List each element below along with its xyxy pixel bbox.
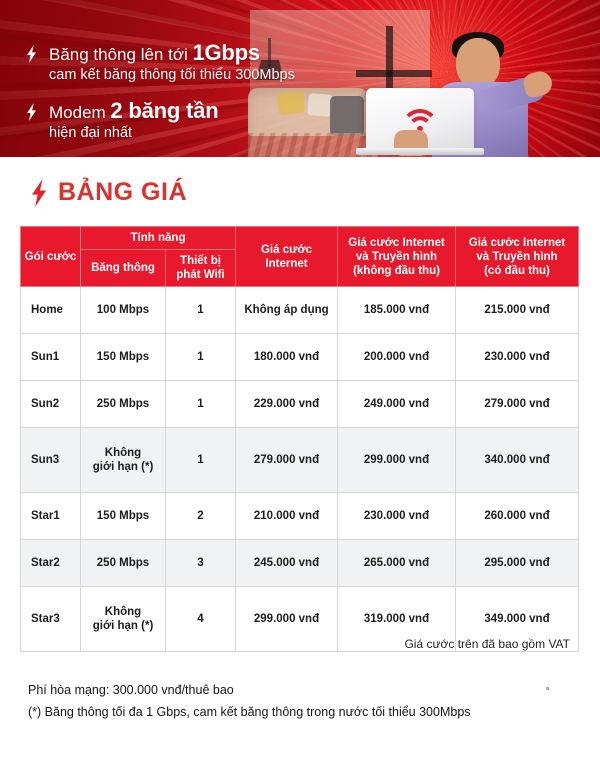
install-fee-note: Phí hòa mạng: 300.000 vnđ/thuê bao — [28, 680, 471, 702]
cell-tv-no-box-price: 265.000 vnđ — [338, 540, 456, 587]
tv-no-box-line-2: và Truyền hình — [340, 250, 453, 264]
tv-box-line-3: (có đầu thu) — [458, 264, 576, 278]
cell-wifi-device: 1 — [166, 334, 236, 381]
wifi-device-line-1: Thiết bị — [168, 254, 233, 268]
cell-internet-price: 210.000 vnđ — [236, 493, 338, 540]
cell-bandwidth: 150 Mbps — [81, 493, 166, 540]
wifi-device-line-2: phát Wifi — [168, 268, 233, 282]
asterisk-note: (*) Băng thông tối đa 1 Gbps, cam kết bă… — [28, 702, 471, 724]
table-row: Home100 Mbps1Không áp dụng185.000 vnđ215… — [21, 287, 579, 334]
cell-wifi-device: 1 — [166, 287, 236, 334]
lightning-bolt-icon — [26, 45, 40, 63]
cell-internet-price: 245.000 vnđ — [236, 540, 338, 587]
tv-no-box-line-3: (không đầu thu) — [340, 264, 453, 278]
cell-package: Home — [21, 287, 81, 334]
col-header-bandwidth: Băng thông — [81, 250, 166, 287]
header-row-top: Gói cước Tính năng Giá cước Internet Giá… — [21, 227, 579, 250]
banner-bullet-2: Modem 2 băng tần hiện đại nhất — [26, 98, 326, 142]
cell-internet-price: 229.000 vnđ — [236, 381, 338, 428]
bullet-1-highlight: 1Gbps — [192, 40, 259, 65]
table-row: Sun1150 Mbps1180.000 vnđ200.000 vnđ230.0… — [21, 334, 579, 381]
image-artifact-speck — [546, 687, 549, 690]
cell-tv-with-box-price: 340.000 vnđ — [456, 428, 579, 493]
cell-internet-price: Không áp dụng — [236, 287, 338, 334]
cell-tv-with-box-price: 230.000 vnđ — [456, 334, 579, 381]
cell-tv-no-box-price: 230.000 vnđ — [338, 493, 456, 540]
cell-internet-price: 180.000 vnđ — [236, 334, 338, 381]
cell-package: Star1 — [21, 493, 81, 540]
bullet-1-line-2: cam kết băng thông tối thiểu 300Mbps — [49, 66, 295, 85]
price-table: Gói cước Tính năng Giá cước Internet Giá… — [20, 226, 579, 652]
lightning-bolt-icon — [30, 179, 48, 207]
internet-price-line-2: Internet — [238, 257, 335, 271]
cell-bandwidth-line-1: Không — [83, 605, 163, 619]
cell-package: Sun2 — [21, 381, 81, 428]
bullet-1-line-1: Băng thông lên tới 1Gbps — [49, 45, 260, 64]
table-row: Sun2250 Mbps1229.000 vnđ249.000 vnđ279.0… — [21, 381, 579, 428]
col-header-internet-price: Giá cước Internet — [236, 227, 338, 287]
cell-package: Sun1 — [21, 334, 81, 381]
cell-bandwidth: 250 Mbps — [81, 540, 166, 587]
cell-tv-no-box-price: 200.000 vnđ — [338, 334, 456, 381]
bullet-2-prefix: Modem — [49, 103, 110, 122]
promo-banner: Băng thông lên tới 1Gbps cam kết băng th… — [0, 0, 600, 157]
page-title: BẢNG GIÁ — [58, 178, 187, 207]
footer-notes: Phí hòa mạng: 300.000 vnđ/thuê bao (*) B… — [28, 680, 471, 723]
cell-bandwidth: 150 Mbps — [81, 334, 166, 381]
internet-price-line-1: Giá cước — [238, 243, 335, 257]
price-table-head: Gói cước Tính năng Giá cước Internet Giá… — [21, 227, 579, 287]
cell-package: Star2 — [21, 540, 81, 587]
bullet-2-highlight: 2 băng tần — [110, 98, 218, 123]
cell-wifi-device: 3 — [166, 540, 236, 587]
lightning-bolt-icon — [26, 103, 40, 121]
cell-bandwidth-line-1: Không — [83, 446, 163, 460]
tv-box-line-2: và Truyền hình — [458, 250, 576, 264]
col-header-package: Gói cước — [21, 227, 81, 287]
cell-tv-with-box-price: 215.000 vnđ — [456, 287, 579, 334]
table-row: Star2250 Mbps3245.000 vnđ265.000 vnđ295.… — [21, 540, 579, 587]
bullet-2-line-1: Modem 2 băng tần — [49, 103, 218, 122]
bullet-1-prefix: Băng thông lên tới — [49, 45, 192, 64]
col-header-tv-with-box: Giá cước Internet và Truyền hình (có đầu… — [456, 227, 579, 287]
bullet-2-line-2: hiện đại nhất — [49, 124, 218, 143]
col-header-wifi-device: Thiết bị phát Wifi — [166, 250, 236, 287]
table-row: Sun3Khônggiới hạn (*)1279.000 vnđ299.000… — [21, 428, 579, 493]
tv-box-line-1: Giá cước Internet — [458, 236, 576, 250]
cell-bandwidth-line-2: giới hạn (*) — [83, 619, 163, 633]
cell-tv-with-box-price: 279.000 vnđ — [456, 381, 579, 428]
cell-tv-no-box-price: 185.000 vnđ — [338, 287, 456, 334]
vat-note: Giá cước trên đã bao gồm VAT — [0, 637, 570, 651]
banner-bullet-1: Băng thông lên tới 1Gbps cam kết băng th… — [26, 40, 326, 84]
cell-wifi-device: 1 — [166, 428, 236, 493]
cell-tv-with-box-price: 295.000 vnđ — [456, 540, 579, 587]
cell-bandwidth-line-2: giới hạn (*) — [83, 460, 163, 474]
cell-bandwidth: 250 Mbps — [81, 381, 166, 428]
col-header-features-group: Tính năng — [81, 227, 236, 250]
cell-wifi-device: 2 — [166, 493, 236, 540]
cell-bandwidth: 100 Mbps — [81, 287, 166, 334]
cell-internet-price: 279.000 vnđ — [236, 428, 338, 493]
price-table-body: Home100 Mbps1Không áp dụng185.000 vnđ215… — [21, 287, 579, 652]
col-header-tv-no-box: Giá cước Internet và Truyền hình (không … — [338, 227, 456, 287]
cell-package: Sun3 — [21, 428, 81, 493]
table-row: Star1150 Mbps2210.000 vnđ230.000 vnđ260.… — [21, 493, 579, 540]
cell-tv-no-box-price: 249.000 vnđ — [338, 381, 456, 428]
price-table-heading: BẢNG GIÁ — [30, 178, 187, 207]
tv-no-box-line-1: Giá cước Internet — [340, 236, 453, 250]
cell-tv-with-box-price: 260.000 vnđ — [456, 493, 579, 540]
cell-wifi-device: 1 — [166, 381, 236, 428]
cell-tv-no-box-price: 299.000 vnđ — [338, 428, 456, 493]
cell-bandwidth: Khônggiới hạn (*) — [81, 428, 166, 493]
banner-copy: Băng thông lên tới 1Gbps cam kết băng th… — [26, 40, 326, 157]
